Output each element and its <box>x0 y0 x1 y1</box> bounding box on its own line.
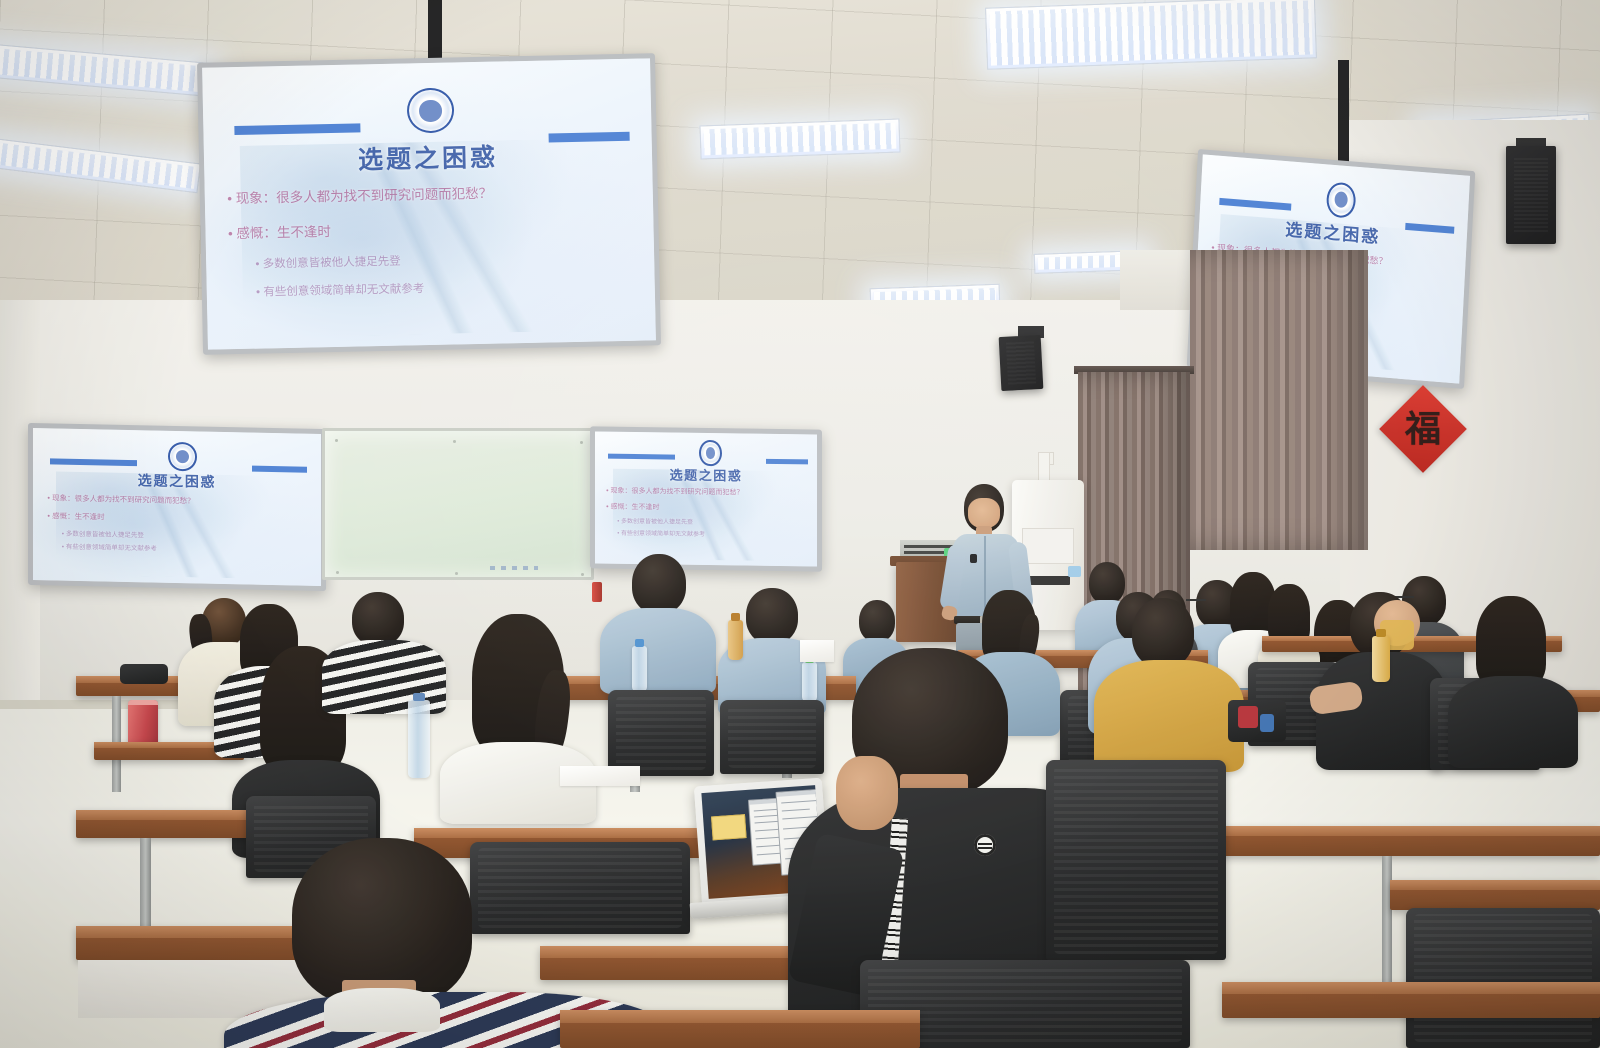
university-seal-icon <box>168 441 197 470</box>
clip-microphone-icon <box>970 554 977 563</box>
slide-accent-bar-left <box>608 454 675 460</box>
screen-surface: 选题之困惑 • 现象：很多人都为找不到研究问题而犯愁？ • 感慨：生不逢时 • … <box>33 428 321 586</box>
desk <box>1390 880 1600 910</box>
slide-accent-bar-left <box>50 459 136 466</box>
curtain <box>1190 250 1368 550</box>
slide-title: 选题之困惑 <box>595 463 817 485</box>
chair <box>1406 908 1600 1048</box>
slide-bullet-4: • 有些创意领域简单却无文献参考 <box>62 541 157 553</box>
slide-accent-bar-left <box>1219 197 1292 210</box>
water-bottle <box>408 700 430 778</box>
chair <box>608 690 714 776</box>
slide-background: 选题之困惑 • 现象：很多人都为找不到研究问题而犯愁？ • 感慨：生不逢时 • … <box>33 428 321 586</box>
student-head <box>632 554 686 614</box>
student-far-right <box>1448 596 1578 766</box>
slide-background: 选题之困惑 • 现象：很多人都为找不到研究问题而犯愁？ • 感慨：生不逢时 • … <box>595 431 817 566</box>
slide-background: 选题之困惑 • 现象：很多人都为找不到研究问题而犯愁？ • 感慨：生不逢时 • … <box>202 58 656 349</box>
shirt-logo <box>974 834 996 856</box>
slide-accent-bar-left <box>235 124 361 136</box>
blue-pouch <box>1260 714 1274 732</box>
university-seal-icon <box>406 88 454 134</box>
fu-character: 福 <box>1400 404 1446 454</box>
slide-accent-bar-right <box>766 459 808 464</box>
ceiling-light-panel <box>985 0 1317 70</box>
handout-paper <box>560 766 640 786</box>
screen-surface: 选题之困惑 • 现象：很多人都为找不到研究问题而犯愁？ • 感慨：生不逢时 • … <box>595 431 817 566</box>
wall-screen-right[interactable]: 选题之困惑 • 现象：很多人都为找不到研究问题而犯愁？ • 感慨：生不逢时 • … <box>590 426 822 571</box>
screen-mount <box>1338 60 1349 172</box>
desk-leg <box>1382 856 1392 986</box>
slide-bullet-3: • 多数创意皆被他人捷足先登 <box>617 516 693 526</box>
water-bottle <box>1372 636 1390 682</box>
slide-bullet-2: • 感慨：生不逢时 <box>228 220 331 242</box>
ac-pipe <box>1038 452 1050 482</box>
polo-collar <box>324 988 440 1032</box>
student-body <box>600 608 716 694</box>
student-head <box>859 600 895 642</box>
wall-screen-left[interactable]: 选题之困惑 • 现象：很多人都为找不到研究问题而犯愁？ • 感慨：生不逢时 • … <box>28 423 326 591</box>
red-pouch <box>1238 706 1258 728</box>
student-hair <box>1476 596 1546 688</box>
student-blue-1 <box>600 554 716 690</box>
student-ponytail-center-left <box>440 614 596 822</box>
water-bottle <box>632 646 647 692</box>
student-hand <box>836 756 898 830</box>
student-head <box>352 592 404 646</box>
main-ceiling-screen[interactable]: 选题之困惑 • 现象：很多人都为找不到研究问题而犯愁？ • 感慨：生不逢时 • … <box>197 53 661 355</box>
sticky-note <box>711 814 747 840</box>
slide-bullet-3: • 多数创意皆被他人捷足先登 <box>255 253 401 272</box>
university-seal-icon <box>699 440 721 467</box>
screen-mount <box>428 0 442 60</box>
desk <box>560 1010 920 1048</box>
presenter-face <box>968 498 1000 528</box>
slide-bullet-4: • 有些创意领域简单却无文献参考 <box>617 528 705 538</box>
slide-bullet-3: • 多数创意皆被他人捷足先登 <box>62 527 144 539</box>
student-head <box>1132 598 1194 668</box>
student-head <box>746 588 798 644</box>
chair <box>1046 760 1226 960</box>
water-bottle <box>728 620 743 660</box>
wall-speaker-icon <box>999 335 1044 391</box>
slide-bullet-1: • 现象：很多人都为找不到研究问题而犯愁？ <box>606 486 743 498</box>
whiteboard <box>322 428 594 580</box>
lecture-hall-photo: 选题之困惑 • 现象：很多人都为找不到研究问题而犯愁？ • 感慨：生不逢时 • … <box>0 0 1600 1048</box>
wall-speaker-icon <box>1506 146 1556 244</box>
student-stripes-back <box>322 592 446 710</box>
handbag <box>120 664 168 684</box>
slide-bullet-2: • 感慨：生不逢时 <box>606 502 659 513</box>
desk <box>1222 982 1600 1018</box>
university-seal-icon <box>1326 181 1357 219</box>
slide-bullet-2: • 感慨：生不逢时 <box>47 510 104 522</box>
thermos-cup <box>128 700 158 748</box>
student-body <box>1448 676 1578 768</box>
desk <box>1180 826 1600 856</box>
screen-surface: 选题之困惑 • 现象：很多人都为找不到研究问题而犯愁？ • 感慨：生不逢时 • … <box>202 58 656 349</box>
marker-tray <box>490 566 538 570</box>
ceiling-light-panel <box>699 119 900 160</box>
